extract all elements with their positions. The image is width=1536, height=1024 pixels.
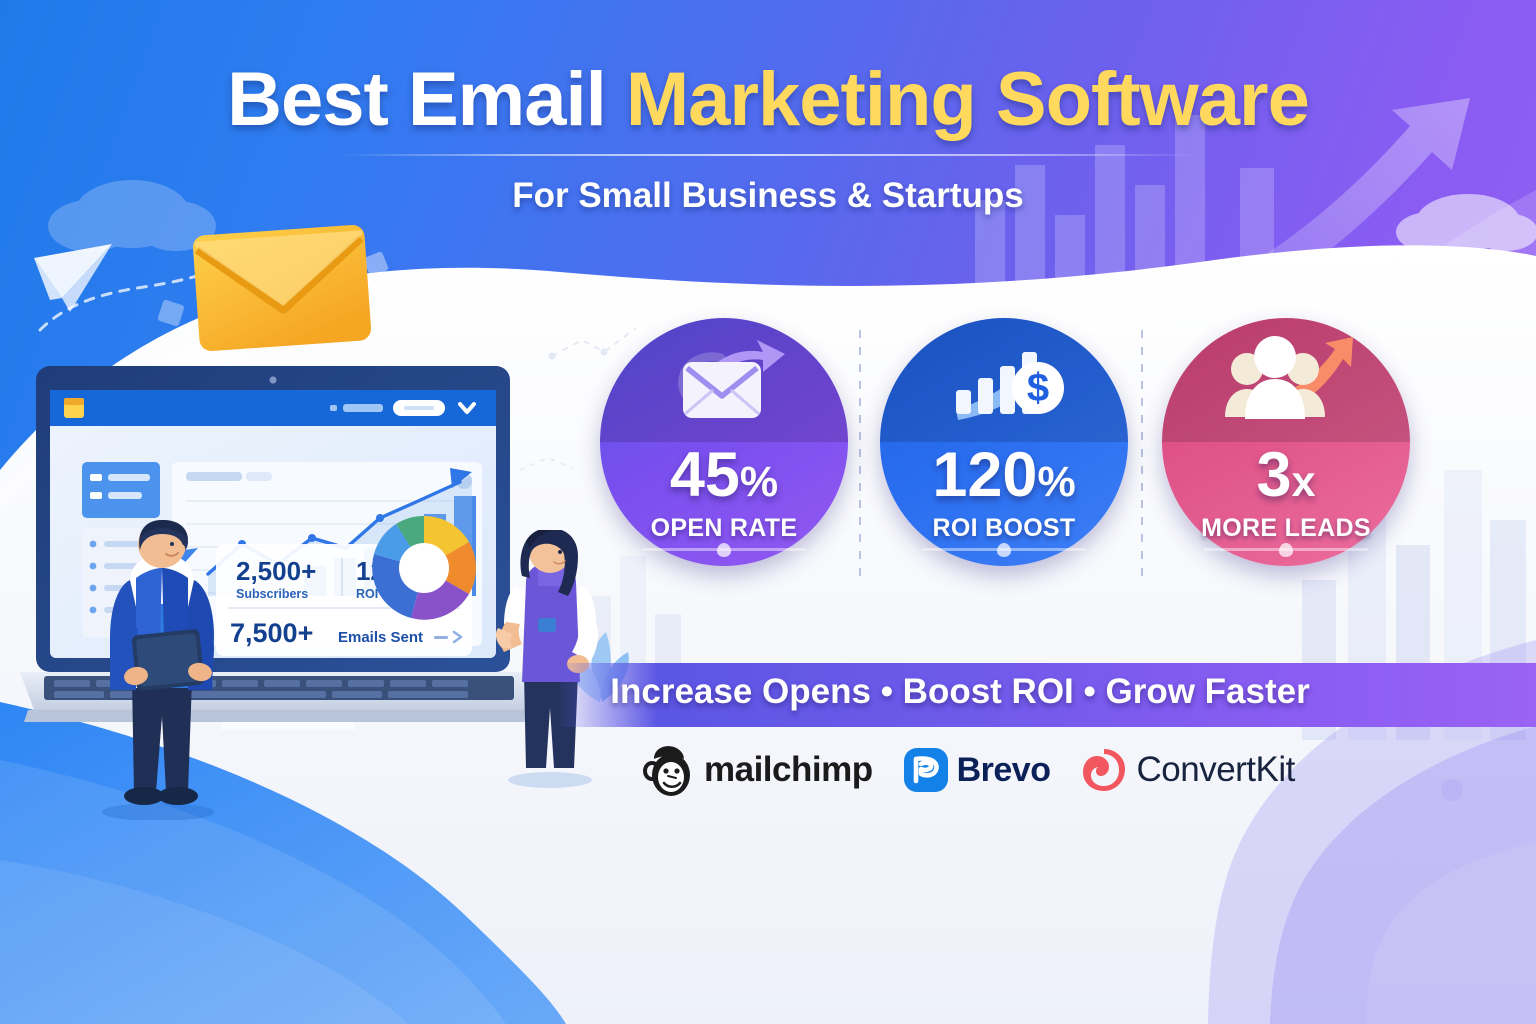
infographic-canvas: Best Email Marketing Software For Small … xyxy=(0,0,1536,1024)
brevo-b-icon xyxy=(903,747,949,793)
float-square xyxy=(157,299,185,327)
stat-card-roi-boost[interactable]: $ 120% ROI BOOST xyxy=(880,318,1150,590)
brand-brevo[interactable]: Brevo xyxy=(903,747,1051,793)
brand-mailchimp[interactable]: mailchimp xyxy=(640,743,873,797)
man-legs xyxy=(132,680,192,792)
stat-value: 3x xyxy=(1162,444,1410,507)
stat-caption: MORE LEADS xyxy=(1162,514,1410,543)
donut-chart xyxy=(372,516,476,620)
wide-metric-value: 7,500+ xyxy=(230,618,313,648)
page-title-highlight: Marketing Software xyxy=(626,57,1309,142)
header-block: Best Email Marketing Software For Small … xyxy=(0,62,1536,216)
tagline-text: Increase Opens • Boost ROI • Grow Faster xyxy=(560,672,1360,712)
bar-chart-dollar-icon: $ xyxy=(880,330,1128,438)
woman-sleeve xyxy=(504,586,528,628)
stat-unit: % xyxy=(1037,458,1075,506)
people-group-icon xyxy=(1162,330,1410,438)
stat-caption: OPEN RATE xyxy=(600,514,848,543)
stat-value: 45% xyxy=(600,444,848,507)
stat-slider[interactable] xyxy=(642,548,806,551)
metric-label-0: Subscribers xyxy=(236,587,308,601)
dashboard-sidebar-active xyxy=(82,462,160,518)
page-subtitle: For Small Business & Startups xyxy=(0,176,1536,216)
brand-name: ConvertKit xyxy=(1136,750,1294,790)
svg-text:$: $ xyxy=(1027,366,1049,410)
titlebar-menu-bar xyxy=(343,404,383,412)
slider-knob[interactable] xyxy=(997,543,1011,557)
metric-label-1: ROI xyxy=(356,587,378,601)
page-title: Best Email Marketing Software xyxy=(0,62,1536,138)
shoe xyxy=(158,787,198,805)
convertkit-swirl-icon xyxy=(1080,746,1128,794)
brand-convertkit[interactable]: ConvertKit xyxy=(1080,746,1294,794)
metric-value-0: 2,500+ xyxy=(236,556,316,586)
slider-knob[interactable] xyxy=(1279,543,1293,557)
slider-knob[interactable] xyxy=(717,543,731,557)
person-man-illustration xyxy=(96,520,236,820)
paper-plane-icon xyxy=(34,244,112,312)
stat-unit: x xyxy=(1292,458,1316,506)
titlebar-menu-dash xyxy=(330,405,337,411)
mailchimp-monkey-icon xyxy=(640,743,696,797)
hero-envelope-icon xyxy=(192,224,372,352)
envelope-icon xyxy=(600,330,848,438)
brand-name: mailchimp xyxy=(704,750,873,790)
person-woman-illustration xyxy=(492,530,612,790)
stat-card-open-rate[interactable]: 45% OPEN RATE xyxy=(600,318,870,590)
wide-metric-label: Emails Sent xyxy=(338,629,423,646)
page-title-part1: Best Email xyxy=(227,57,626,142)
stat-card-more-leads[interactable]: 3x MORE LEADS xyxy=(1162,318,1432,590)
stat-slider[interactable] xyxy=(922,548,1086,551)
stat-caption: ROI BOOST xyxy=(880,514,1128,543)
stat-circles-row: 45% OPEN RATE $ 120% ROI BOO xyxy=(600,318,1440,590)
webcam-icon xyxy=(269,376,276,383)
stat-unit: % xyxy=(740,458,778,506)
stat-slider[interactable] xyxy=(1204,548,1368,551)
title-divider xyxy=(338,154,1198,156)
brand-name: Brevo xyxy=(957,751,1051,790)
badge-icon xyxy=(538,618,556,632)
stat-value: 120% xyxy=(880,444,1128,507)
brand-logos-row: mailchimp Brevo ConvertKit xyxy=(640,738,1340,802)
